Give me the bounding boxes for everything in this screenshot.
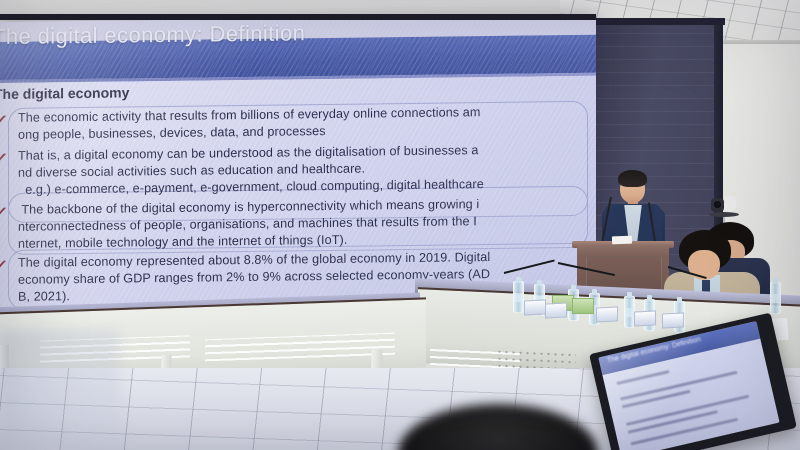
checkmark-icon: ✓ (0, 257, 8, 273)
foreground-defocus-left (0, 330, 120, 450)
slide-bullet-1-text: The economic activity that results from … (18, 104, 480, 144)
slide-bullet-3-text: The backbone of the digital economy is h… (18, 196, 479, 253)
projection-screen: The digital economy: Definition The digi… (0, 15, 596, 307)
name-card (596, 306, 618, 322)
slide-bullet-2-text: That is, a digital economy can be unders… (18, 142, 484, 199)
name-card (634, 310, 656, 326)
screen-bezel (0, 14, 596, 20)
podium-notes (612, 236, 632, 245)
name-card (524, 299, 546, 315)
checkmark-icon: ✓ (0, 150, 8, 166)
presenter-hair (618, 170, 647, 187)
slide-title: The digital economy: Definition (0, 20, 305, 50)
name-card (662, 312, 684, 328)
water-bottle (513, 281, 524, 313)
presentation-photo-scene: The digital economy: Definition The digi… (0, 0, 800, 450)
camera-lens-icon (714, 201, 721, 208)
green-box (572, 298, 594, 314)
camera-stand-base (709, 212, 739, 217)
checkmark-icon: ✓ (0, 204, 8, 220)
camera-body-side (724, 196, 736, 212)
checkmark-icon: ✓ (0, 112, 8, 128)
slide-heading: The digital economy (0, 84, 129, 102)
water-bottle (770, 282, 781, 314)
name-card (545, 302, 567, 318)
screen-frame-top (593, 18, 725, 25)
